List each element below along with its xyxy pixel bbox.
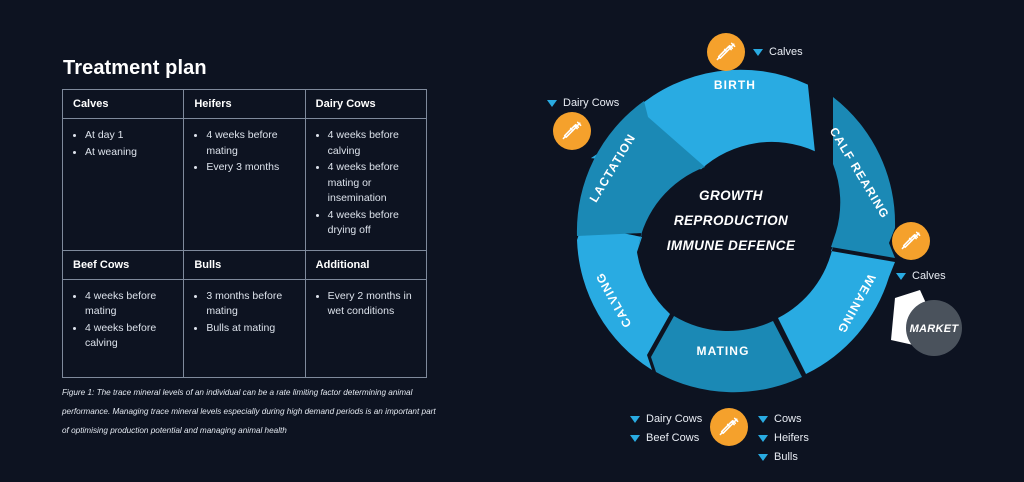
page-title: Treatment plan: [63, 57, 207, 80]
triangle-bullet-icon: [758, 416, 768, 423]
syringe-icon-right[interactable]: [892, 222, 930, 260]
triangle-bullet-icon: [758, 435, 768, 442]
annotation-bottom-right: Cows Heifers Bulls: [758, 410, 809, 467]
triangle-bullet-icon: [753, 49, 763, 56]
table-header-dairy-cows: Dairy Cows: [305, 90, 426, 119]
table-header-heifers: Heifers: [184, 90, 305, 119]
syringe-icon-top[interactable]: [707, 33, 745, 71]
list-item: 4 weeks before calving: [85, 321, 177, 352]
annotation-item[interactable]: Dairy Cows: [630, 410, 702, 429]
table-header-calves: Calves: [63, 90, 184, 119]
syringe-icon: [718, 416, 740, 438]
table-header-bulls: Bulls: [184, 250, 305, 279]
triangle-bullet-icon: [547, 100, 557, 107]
annotation-item[interactable]: Calves: [896, 267, 946, 286]
table-header-beef-cows: Beef Cows: [63, 250, 184, 279]
annotation-label: Calves: [912, 267, 946, 286]
annotation-item[interactable]: Dairy Cows: [547, 94, 619, 113]
list-item: At weaning: [85, 145, 177, 161]
table-row: Beef Cows Bulls Additional: [63, 250, 427, 279]
list-item: 4 weeks before drying off: [328, 208, 420, 239]
annotation-top: Calves: [753, 43, 803, 62]
market-node-label: MARKET: [910, 323, 960, 335]
center-text-line-2: REPRODUCTION: [674, 213, 788, 228]
annotation-label: Cows: [774, 410, 802, 429]
table-cell-beef-cows: 4 weeks before mating 4 weeks before cal…: [63, 279, 184, 377]
annotation-label: Calves: [769, 43, 803, 62]
list-item: Every 3 months: [206, 160, 298, 176]
lifecycle-wheel-diagram: MARKET BIRTH CALF REARING WEANING MATING…: [520, 0, 1024, 482]
annotation-label: Dairy Cows: [563, 94, 619, 113]
table-cell-calves: At day 1 At weaning: [63, 119, 184, 251]
list-item: 4 weeks before calving: [328, 128, 420, 159]
list-item: 4 weeks before mating or insemination: [328, 160, 420, 207]
wheel-segment-label-birth: BIRTH: [714, 78, 756, 92]
syringe-icon: [715, 41, 737, 63]
table-row: 4 weeks before mating 4 weeks before cal…: [63, 279, 427, 377]
list-item: Every 2 months in wet conditions: [328, 289, 420, 320]
table-header-additional: Additional: [305, 250, 426, 279]
annotation-bottom-left: Dairy Cows Beef Cows: [630, 410, 702, 448]
annotation-label: Dairy Cows: [646, 410, 702, 429]
annotation-label: Heifers: [774, 429, 809, 448]
table-row: Calves Heifers Dairy Cows: [63, 90, 427, 119]
annotation-left: Dairy Cows: [547, 94, 619, 113]
list-item: 4 weeks before mating: [85, 289, 177, 320]
annotation-label: Bulls: [774, 448, 798, 467]
annotation-item[interactable]: Heifers: [758, 429, 809, 448]
table-cell-additional: Every 2 months in wet conditions: [305, 279, 426, 377]
list-item: 4 weeks before mating: [206, 128, 298, 159]
table-cell-heifers: 4 weeks before mating Every 3 months: [184, 119, 305, 251]
annotation-label: Beef Cows: [646, 429, 699, 448]
figure-caption: Figure 1: The trace mineral levels of an…: [62, 383, 440, 440]
syringe-icon: [900, 230, 922, 252]
annotation-item[interactable]: Bulls: [758, 448, 809, 467]
treatment-plan-table: Calves Heifers Dairy Cows At day 1 At we…: [62, 89, 427, 378]
list-item: 3 months before mating: [206, 289, 298, 320]
annotation-right: Calves: [896, 267, 946, 286]
syringe-icon: [561, 120, 583, 142]
syringe-icon-bottom[interactable]: [710, 408, 748, 446]
list-item: Bulls at mating: [206, 321, 298, 337]
center-text-line-1: GROWTH: [699, 188, 763, 203]
triangle-bullet-icon: [630, 435, 640, 442]
center-text-line-3: IMMUNE DEFENCE: [667, 238, 796, 253]
wheel-segment-label-mating: MATING: [696, 344, 749, 358]
syringe-icon-left[interactable]: [553, 112, 591, 150]
triangle-bullet-icon: [896, 273, 906, 280]
table-cell-bulls: 3 months before mating Bulls at mating: [184, 279, 305, 377]
annotation-item[interactable]: Beef Cows: [630, 429, 702, 448]
table-row: At day 1 At weaning 4 weeks before matin…: [63, 119, 427, 251]
triangle-bullet-icon: [630, 416, 640, 423]
table-cell-dairy-cows: 4 weeks before calving 4 weeks before ma…: [305, 119, 426, 251]
wheel-segment-weaning[interactable]: [778, 246, 895, 374]
list-item: At day 1: [85, 128, 177, 144]
annotation-item[interactable]: Cows: [758, 410, 809, 429]
triangle-bullet-icon: [758, 454, 768, 461]
treatment-plan-panel: Treatment plan Calves Heifers Dairy Cows…: [0, 0, 500, 482]
annotation-item[interactable]: Calves: [753, 43, 803, 62]
